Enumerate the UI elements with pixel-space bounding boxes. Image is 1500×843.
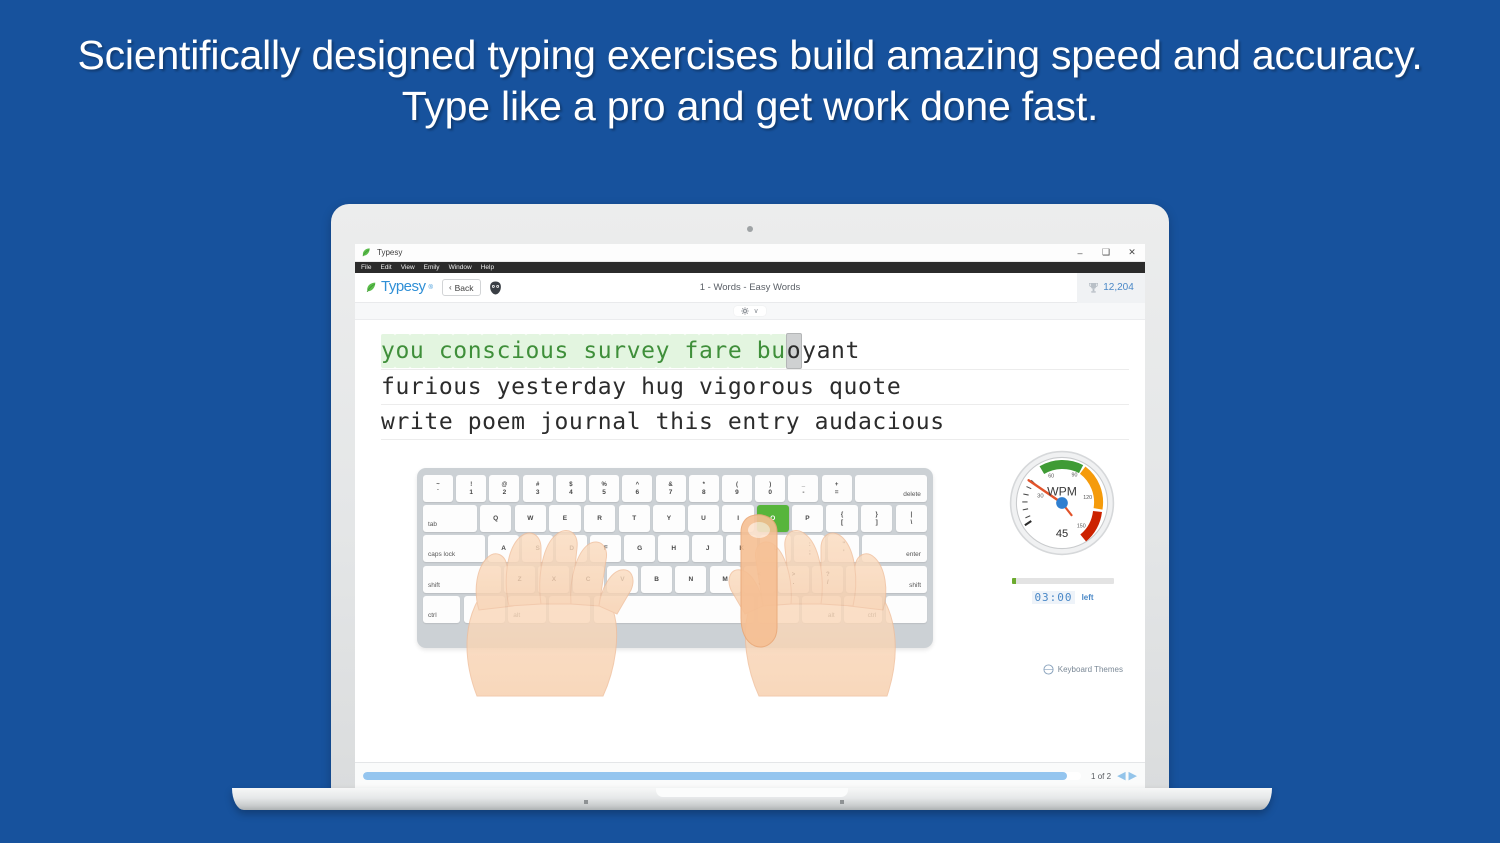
typing-char: e [497,405,511,439]
typing-char: n [831,334,845,368]
base-dot [584,800,588,804]
key-7[interactable]: &7 [656,475,686,502]
keyboard-row: ~`!1@2#3$4%5^6&7*8(9)0_-+=delete [423,475,927,502]
key-upper-legend: | [911,512,913,518]
typing-char [569,334,583,368]
typing-char: o [901,405,915,439]
key-[interactable]: }] [861,505,892,532]
typing-char: e [511,370,525,404]
typing-char [482,370,496,404]
typing-char: t [424,405,438,439]
typing-char: a [699,334,713,368]
gauge-tick-150: 150 [1077,523,1086,529]
key-4[interactable]: $4 [556,475,586,502]
typing-char: y [802,334,816,368]
menu-item-window[interactable]: Window [449,262,472,273]
key-h[interactable]: H [658,535,689,562]
key-[interactable]: {[ [826,505,857,532]
typing-char: d [844,405,858,439]
close-button[interactable]: ✕ [1119,244,1145,262]
typing-line: you conscious survey fare buoyant [381,333,1129,370]
typing-char: r [410,370,424,404]
typing-char: o [858,370,872,404]
typing-char: n [598,405,612,439]
webcam-icon [747,226,753,232]
typing-char: y [497,370,511,404]
typing-char: u [656,370,670,404]
typing-char: o [554,405,568,439]
typing-char: u [844,370,858,404]
prev-page-icon[interactable]: ◀ [1117,771,1125,782]
typing-char [453,405,467,439]
typing-char: c [872,405,886,439]
typing-text-area[interactable]: you conscious survey fare buoyantfurious… [355,320,1145,440]
typing-char: o [395,334,409,368]
key-upper-legend: } [876,512,878,518]
typing-char: g [728,370,742,404]
typing-char: u [786,370,800,404]
key-upper-legend: ? [826,572,830,578]
key-y[interactable]: Y [653,505,684,532]
typing-char: u [410,334,424,368]
key-i[interactable]: I [722,505,753,532]
typing-char [800,405,814,439]
typing-char: a [598,370,612,404]
key-a[interactable]: A [488,535,519,562]
key-lower-legend: ; [809,549,811,556]
typing-char: i [424,370,438,404]
typing-char: e [887,370,901,404]
key-upper-legend: & [668,482,672,488]
key-alt[interactable]: alt [802,596,840,623]
typing-cursor-char: o [786,333,802,369]
typing-char: s [800,370,814,404]
keyboard-row: caps lockASDFGHJKL:;"'enter [423,535,927,562]
key-t[interactable]: T [619,505,650,532]
key-1[interactable]: !1 [456,475,486,502]
key-d[interactable]: D [556,535,587,562]
typing-char: r [757,370,771,404]
key-p[interactable]: P [792,505,823,532]
key-upper-legend: < [758,572,762,578]
back-button[interactable]: ‹ Back [442,279,481,296]
key-lower-legend: - [802,489,804,496]
session-progress-fill [1012,578,1016,584]
typing-char [670,334,684,368]
gauge-tick-60: 60 [1048,474,1054,480]
key-lower-legend: 4 [569,489,573,496]
typing-char [713,405,727,439]
score-badge[interactable]: 12,204 [1077,273,1145,303]
typing-char: s [468,370,482,404]
typing-char: e [554,370,568,404]
key-upper-legend: ( [736,482,738,488]
key-upper-legend: $ [569,482,572,488]
typing-char: t [540,370,554,404]
app-header: Typesy ® ‹ Back 1 - Words - Easy Words [355,273,1145,303]
typing-char: o [526,334,540,368]
key-k[interactable]: K [726,535,757,562]
typesy-wordmark: Typesy [381,278,426,295]
menu-item-help[interactable]: Help [481,262,494,273]
typing-char: i [887,405,901,439]
typesy-leaf-icon [365,281,378,294]
key-z[interactable]: Z [504,566,535,593]
lesson-progress-track[interactable] [363,772,1081,780]
base-dot [840,800,844,804]
typing-char: t [757,405,771,439]
typing-char: u [771,334,785,368]
timer: 03:00 left [1009,591,1117,604]
typing-char: u [453,370,467,404]
gauge-unit-label: WPM [1047,485,1077,499]
typing-char: r [771,405,785,439]
key-m[interactable]: M [710,566,741,593]
typing-char: o [439,370,453,404]
typing-char: o [771,370,785,404]
key-lower-legend: . [793,579,795,586]
promo-headline: Scientifically designed typing exercises… [0,30,1500,132]
typing-char: u [598,334,612,368]
key-blank[interactable] [464,596,506,623]
settings-strip: ∨ [355,303,1145,320]
key-6[interactable]: ^6 [622,475,652,502]
key-u[interactable]: U [688,505,719,532]
laptop-base [232,788,1272,810]
key-e[interactable]: E [549,505,580,532]
key-lower-legend: ` [437,489,439,496]
key-upper-legend: # [536,482,539,488]
typing-char: c [497,334,511,368]
typing-char: e [439,405,453,439]
key-lower-legend: 1 [469,489,473,496]
session-progress-bar [1012,578,1114,584]
typing-char: h [670,405,684,439]
key-f[interactable]: F [590,535,621,562]
typing-char: d [583,370,597,404]
typing-char: m [511,405,525,439]
key-lower-legend: 8 [702,489,706,496]
key-g[interactable]: G [624,535,655,562]
typing-char: v [699,370,713,404]
typing-line: write poem journal this entry audacious [381,405,1129,440]
chevron-left-icon: ‹ [449,284,452,292]
key-3[interactable]: #3 [523,475,553,502]
typing-char: s [526,370,540,404]
key-9[interactable]: (9 [722,475,752,502]
key-s[interactable]: S [522,535,553,562]
key-alt[interactable]: alt [508,596,545,623]
key-lower-legend: 9 [735,489,739,496]
laptop-notch [656,788,848,797]
key-lower-legend: \ [910,519,912,526]
chevron-down-icon: ∨ [753,308,758,315]
typing-char: o [453,334,467,368]
typing-char: i [685,405,699,439]
gear-icon [741,307,749,315]
gauge-tick-120: 120 [1083,495,1092,501]
typing-char: o [482,405,496,439]
key-[interactable]: <, [744,566,775,593]
typing-char: c [439,334,453,368]
key-blank[interactable] [758,596,800,623]
key-lower-legend: [ [841,519,843,526]
key-w[interactable]: W [515,505,546,532]
key-upper-legend: : [809,542,811,548]
gauge-tick-30: 30 [1037,494,1044,500]
next-page-icon[interactable]: ▶ [1129,771,1137,782]
typing-char: s [930,405,944,439]
typing-char: u [540,334,554,368]
key-lower-legend: 3 [536,489,540,496]
practice-zone: ~`!1@2#3$4%5^6&7*8(9)0_-+=deletetabQWERT… [355,440,1145,685]
typing-char: y [381,334,395,368]
window-controls: – ❑ ✕ [1067,244,1145,262]
typesy-brand[interactable]: Typesy ® [365,279,433,296]
key-l[interactable]: L [760,535,791,562]
typing-char: q [829,370,843,404]
minimize-button[interactable]: – [1067,244,1093,262]
typing-char [526,405,540,439]
typing-char [627,370,641,404]
key-upper-legend: > [792,572,796,578]
key-[interactable]: ?/ [812,566,843,593]
key-[interactable]: "' [828,535,859,562]
gauge-value: 45 [1056,528,1068,540]
typing-char: r [395,405,409,439]
typing-char: n [468,334,482,368]
typing-char: u [916,405,930,439]
key-o[interactable]: O [757,505,788,532]
key-upper-legend: ! [470,482,472,488]
timer-value: 03:00 [1032,591,1074,604]
menu-item-emily[interactable]: Emily [424,262,440,273]
keyboard-row: shiftZXCVBNM<,>.?/shift [423,566,927,593]
typing-char: t [656,405,670,439]
key-upper-legend: * [703,482,705,488]
key-[interactable]: _- [788,475,818,502]
laptop-screen: Typesy – ❑ ✕ FileEditViewEmilyWindowHelp… [355,244,1145,789]
key-[interactable]: |\ [896,505,927,532]
key-8[interactable]: *8 [689,475,719,502]
key-upper-legend: { [841,512,843,518]
typing-char: i [713,370,727,404]
maximize-button[interactable]: ❑ [1093,244,1119,262]
typing-char [641,405,655,439]
key-b[interactable]: B [641,566,672,593]
key-upper-legend: " [842,542,845,548]
typing-char [815,370,829,404]
page-indicator: 1 of 2 [1091,772,1111,781]
typing-char: s [482,334,496,368]
score-value: 12,204 [1103,282,1134,293]
typing-char [424,334,438,368]
typing-char: r [583,405,597,439]
key-enter[interactable]: enter [862,535,927,562]
key-upper-legend: _ [802,482,805,488]
key-q[interactable]: Q [480,505,511,532]
headline-line-1: Scientifically designed typing exercises… [0,30,1500,81]
wpm-gauge: 30 60 90 120 150 WPM 45 [1009,450,1115,556]
typing-char: v [627,334,641,368]
key-shift[interactable]: shift [423,566,501,593]
typing-char: h [641,370,655,404]
key-ctrl[interactable]: ctrl [423,596,460,623]
key-[interactable]: ~` [423,475,453,502]
menu-bar: FileEditViewEmilyWindowHelp [355,262,1145,273]
virtual-keyboard[interactable]: ~`!1@2#3$4%5^6&7*8(9)0_-+=deletetabQWERT… [417,468,933,648]
timer-label: left [1082,593,1094,602]
key-blank[interactable] [594,596,755,623]
key-caps-lock[interactable]: caps lock [423,535,485,562]
typing-char: f [381,370,395,404]
lesson-progress-fill [363,772,1067,780]
key-upper-legend: ~ [436,482,440,488]
typing-char: e [641,334,655,368]
key-lower-legend: ' [843,549,845,556]
key-lower-legend: 0 [768,489,772,496]
keyboard-themes-link[interactable]: Keyboard Themes [1043,664,1123,675]
page-navigation: ◀ ▶ [1117,771,1137,782]
key-ctrl[interactable]: ctrl [844,596,882,623]
typing-char: y [612,370,626,404]
typing-char: y [786,405,800,439]
key-lower-legend: ] [876,519,878,526]
menu-item-view[interactable]: View [401,262,415,273]
palette-icon [1043,664,1054,675]
key-j[interactable]: J [692,535,723,562]
key-[interactable]: >. [778,566,809,593]
key-lower-legend: 2 [503,489,507,496]
typing-char: b [757,334,771,368]
key-2[interactable]: @2 [489,475,519,502]
key-n[interactable]: N [675,566,706,593]
window-title: Typesy [377,248,402,257]
typing-char: e [728,334,742,368]
typing-char: g [670,370,684,404]
wpm-gauge-panel: 30 60 90 120 150 WPM 45 03 [1009,450,1117,604]
typing-char: f [685,334,699,368]
typing-char: u [829,405,843,439]
key-[interactable]: :; [794,535,825,562]
status-bar: 1 of 2 ◀ ▶ [355,762,1145,789]
key-shift[interactable]: shift [846,566,927,593]
typing-char: j [540,405,554,439]
back-button-label: Back [455,283,474,293]
typing-line: furious yesterday hug vigorous quote [381,370,1129,405]
settings-dropdown[interactable]: ∨ [734,306,765,316]
key-lower-legend: , [758,579,760,586]
typing-char: r [569,370,583,404]
typing-char: i [410,405,424,439]
typesy-logo-icon [361,247,372,258]
typing-char: t [846,334,860,368]
key-upper-legend: ^ [636,482,640,488]
key-5[interactable]: %5 [589,475,619,502]
registered-mark: ® [429,285,433,291]
key-[interactable]: += [822,475,852,502]
trophy-icon [1088,282,1099,294]
key-0[interactable]: )0 [755,475,785,502]
typing-char: p [468,405,482,439]
key-v[interactable]: V [607,566,638,593]
key-blank[interactable] [549,596,591,623]
typing-char: w [381,405,395,439]
key-lower-legend: 6 [636,489,640,496]
key-blank[interactable] [886,596,928,623]
key-upper-legend: ) [769,482,771,488]
typing-char [742,334,756,368]
typing-char: a [815,405,829,439]
typing-char: r [612,334,626,368]
key-lower-legend: 5 [602,489,606,496]
window-titlebar: Typesy – ❑ ✕ [355,244,1145,262]
keyboard-row: tabQWERTYUIOP{[}]|\ [423,505,927,532]
typing-char: u [395,370,409,404]
typing-char: i [511,334,525,368]
laptop-lid: Typesy – ❑ ✕ FileEditViewEmilyWindowHelp… [331,204,1169,793]
menu-item-file[interactable]: File [361,262,371,273]
key-tab[interactable]: tab [423,505,477,532]
typing-char: a [817,334,831,368]
typing-char: u [569,405,583,439]
menu-item-edit[interactable]: Edit [380,262,391,273]
key-upper-legend: + [835,482,839,488]
key-lower-legend: 7 [669,489,673,496]
key-lower-legend: = [835,489,839,496]
key-delete[interactable]: delete [855,475,927,502]
typing-char: s [583,334,597,368]
key-c[interactable]: C [573,566,604,593]
typing-char: a [858,405,872,439]
gauge-tick-90: 90 [1072,473,1078,479]
keyboard-themes-label: Keyboard Themes [1058,665,1123,674]
typing-char: o [742,370,756,404]
typing-char: s [699,405,713,439]
typing-char: a [612,405,626,439]
typing-char: y [656,334,670,368]
typing-char: n [742,405,756,439]
typing-char: r [713,334,727,368]
key-x[interactable]: X [538,566,569,593]
headline-line-2: Type like a pro and get work done fast. [0,81,1500,132]
typing-char: t [872,370,886,404]
typing-char: l [627,405,641,439]
keyboard-row: ctrlaltaltctrl [423,596,927,623]
key-r[interactable]: R [584,505,615,532]
key-lower-legend: / [827,579,829,586]
key-upper-legend: % [601,482,606,488]
typing-char [685,370,699,404]
typing-char: s [554,334,568,368]
typing-char: e [728,405,742,439]
owl-mascot-icon[interactable] [489,281,502,295]
key-upper-legend: @ [502,482,508,488]
